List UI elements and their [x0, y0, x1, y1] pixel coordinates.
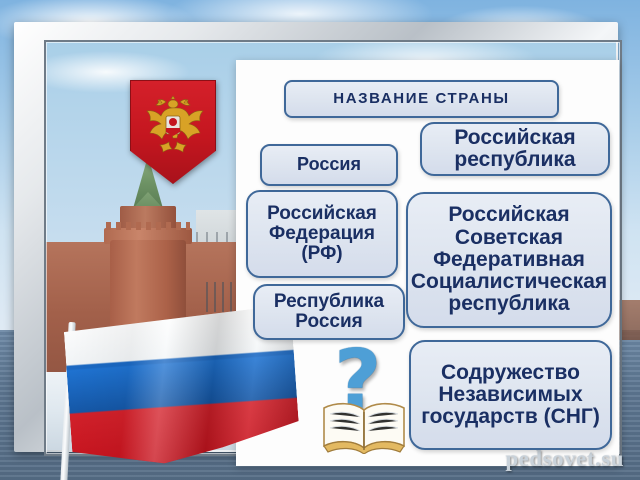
coat-of-arms-icon — [130, 80, 216, 184]
name-box-republic-russia-label: Республика Россия — [255, 292, 403, 332]
open-book-icon — [318, 398, 410, 454]
name-box-rossiya-label: Россия — [262, 155, 396, 174]
title-box-label: НАЗВАНИЕ СТРАНЫ — [286, 91, 557, 107]
name-box-russian-federation-label: Российская Федерация (РФ) — [248, 204, 396, 264]
slide-canvas: ? НАЗВАНИЕ СТРАНЫ Россия Российская Феде… — [0, 0, 640, 480]
name-box-russian-republic-label: Российская республика — [422, 127, 608, 172]
name-box-rsfsr-label: Российская Советская Федеративная Социал… — [408, 204, 610, 315]
name-box-russian-republic[interactable]: Российская республика — [420, 122, 610, 176]
title-box[interactable]: НАЗВАНИЕ СТРАНЫ — [284, 80, 559, 118]
name-box-cis[interactable]: Содружество Независимых государств (СНГ) — [409, 340, 612, 450]
name-box-rossiya[interactable]: Россия — [260, 144, 398, 186]
question-book-graphic: ? — [316, 340, 412, 458]
name-box-russian-federation[interactable]: Российская Федерация (РФ) — [246, 190, 398, 278]
silver-picture-frame: ? НАЗВАНИЕ СТРАНЫ Россия Российская Феде… — [14, 22, 618, 452]
name-box-rsfsr[interactable]: Российская Советская Федеративная Социал… — [406, 192, 612, 328]
name-box-republic-russia[interactable]: Республика Россия — [253, 284, 405, 340]
name-box-cis-label: Содружество Независимых государств (СНГ) — [411, 362, 610, 429]
double-headed-eagle-icon — [140, 94, 206, 156]
